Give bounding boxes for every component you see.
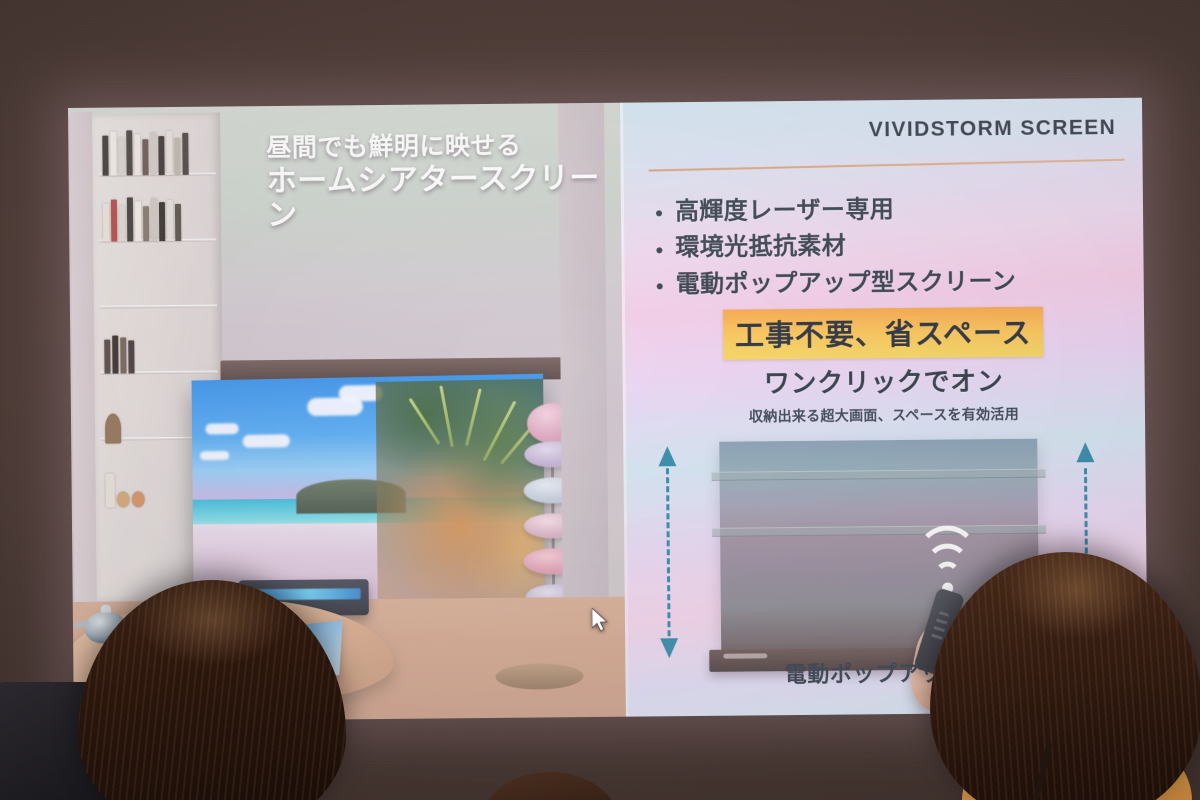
header-divider-rule xyxy=(649,159,1125,172)
list-item: 環境光抵抗素材 xyxy=(651,227,1016,267)
highlight-banner: 工事不要、省スペース xyxy=(723,307,1044,360)
brand-title: VIVIDSTORM SCREEN xyxy=(869,116,1117,142)
wifi-signal-icon xyxy=(914,539,981,594)
highlight-block: 工事不要、省スペース ワンクリックでオン 収納出来る超大画面、スペースを有効活用 xyxy=(622,306,1145,428)
small-note: 収納出来る超大画面、スペースを有効活用 xyxy=(623,403,1145,428)
screenshot-root: 昼間でも鮮明に映せる ホームシアタースクリーン VIVIDSTORM SCREE… xyxy=(0,0,1200,800)
double-arrow-up-down-icon xyxy=(655,446,681,658)
feature-bullet-list: 高輝度レーザー専用 環境光抵抗素材 電動ポップアップ型スクリーン xyxy=(651,191,1016,304)
sub-heading: ワンクリックでオン xyxy=(622,360,1144,402)
slide-left-title-line2: ホームシアタースクリーン xyxy=(267,161,618,234)
slide-left-title-line1: 昼間でも鮮明に映せる xyxy=(266,131,616,164)
slide-left-title: 昼間でも鮮明に映せる ホームシアタースクリーン xyxy=(266,131,617,234)
list-item: 電動ポップアップ型スクリーン xyxy=(652,264,1017,304)
photo-projection-screen xyxy=(192,374,546,610)
list-item: 高輝度レーザー専用 xyxy=(651,191,1016,231)
